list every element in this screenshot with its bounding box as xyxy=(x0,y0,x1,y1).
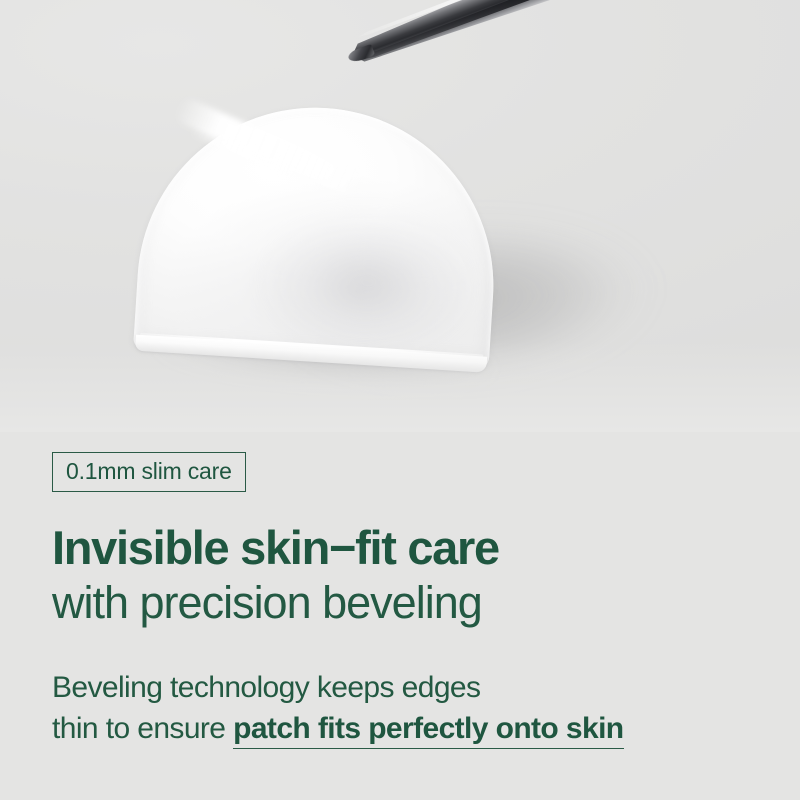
copy-block: 0.1mm slim care Invisible skin−fit care … xyxy=(52,452,752,750)
product-photo xyxy=(0,0,800,432)
body-emphasis-underlined: patch fits perfectly onto skin xyxy=(233,712,623,749)
body-copy: Beveling technology keeps edges thin to … xyxy=(52,667,752,750)
body-line-2-prefix: thin to ensure xyxy=(52,712,233,745)
body-line-2: thin to ensure patch fits perfectly onto… xyxy=(52,708,752,749)
badge-label: 0.1mm slim care xyxy=(66,458,232,484)
tweezers-icon xyxy=(352,0,800,182)
headline-line-2: with precision beveling xyxy=(52,580,752,625)
headline-line-1: Invisible skin−fit care xyxy=(52,524,752,571)
body-line-1: Beveling technology keeps edges xyxy=(52,667,752,708)
status-badge: 0.1mm slim care xyxy=(52,452,246,492)
product-feature-panel: 0.1mm slim care Invisible skin−fit care … xyxy=(0,0,800,800)
tweezer-tip xyxy=(347,44,376,64)
page-title: Invisible skin−fit care with precision b… xyxy=(52,524,752,625)
